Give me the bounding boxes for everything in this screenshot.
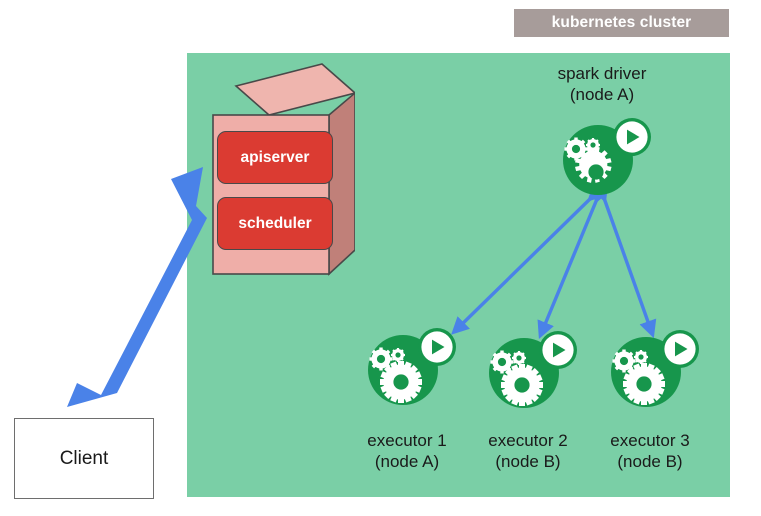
pod-caption-executor-1: executor 1 (node A) <box>337 431 477 473</box>
play-button-icon <box>616 121 647 152</box>
pod-caption-executor-3-line1: executor 3 <box>580 431 720 452</box>
pod-caption-executor-2: executor 2 (node B) <box>458 431 598 473</box>
pod-gears-play-icon <box>611 330 699 407</box>
pod-gears-play-icon <box>563 118 651 195</box>
pod-gears-play-icon <box>489 331 577 408</box>
pod-gears-play-icon <box>368 328 456 405</box>
cluster-title-badge: kubernetes cluster <box>514 9 729 37</box>
component-apiserver-label: apiserver <box>241 149 310 167</box>
pod-executor-1[interactable] <box>358 328 456 406</box>
pod-executor-3[interactable] <box>601 330 699 408</box>
pod-caption-spark-driver: spark driver (node A) <box>531 64 673 106</box>
pod-caption-executor-1-line2: (node A) <box>337 452 477 473</box>
pod-caption-executor-1-line1: executor 1 <box>337 431 477 452</box>
pod-caption-executor-2-line1: executor 2 <box>458 431 598 452</box>
spark-submit-arrow <box>55 165 210 410</box>
diagram-canvas: kubernetes cluster apiserver scheduler s… <box>0 0 761 516</box>
pod-executor-2[interactable] <box>479 331 577 409</box>
play-button-icon <box>664 333 695 364</box>
play-button-icon <box>542 334 573 365</box>
client-label: Client <box>60 448 109 470</box>
pod-caption-executor-2-line2: (node B) <box>458 452 598 473</box>
spark-submit-arrow-shape <box>67 167 207 407</box>
pod-caption-executor-3: executor 3 (node B) <box>580 431 720 473</box>
client-box[interactable]: Client <box>14 418 154 499</box>
pod-caption-executor-3-line2: (node B) <box>580 452 720 473</box>
component-apiserver[interactable]: apiserver <box>217 131 333 184</box>
pod-spark-driver[interactable] <box>553 118 651 196</box>
pod-caption-spark-driver-line2: (node A) <box>531 85 673 106</box>
play-button-icon <box>421 331 452 362</box>
component-scheduler[interactable]: scheduler <box>217 197 333 250</box>
cube-side-face <box>329 93 355 274</box>
pod-caption-spark-driver-line1: spark driver <box>531 64 673 85</box>
cluster-title-label: kubernetes cluster <box>552 14 692 32</box>
component-scheduler-label: scheduler <box>238 215 311 233</box>
